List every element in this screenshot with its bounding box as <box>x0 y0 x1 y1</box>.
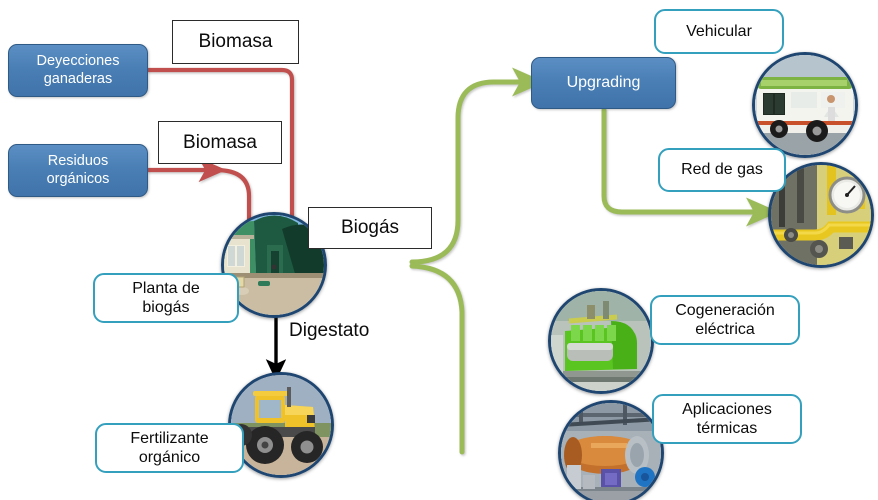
label-digestato: Digestato <box>289 320 369 342</box>
photo-boiler[interactable] <box>558 400 664 500</box>
label-biomasa-2-text: Biomasa <box>183 132 257 154</box>
label-aplicaciones-termicas[interactable]: Aplicaciones térmicas <box>652 394 802 444</box>
label-cogeneracion-electrica-line2: eléctrica <box>675 320 775 339</box>
label-biogas-text: Biogás <box>341 217 399 239</box>
label-aplicaciones-termicas-line1: Aplicaciones <box>682 400 772 419</box>
tractor-photo <box>231 375 331 475</box>
label-planta-de-biogas-line1: Planta de <box>132 279 200 298</box>
diagram-canvas: Deyecciones ganaderas Residuos orgánicos… <box>0 0 878 500</box>
label-planta-de-biogas-line2: biogás <box>132 298 200 317</box>
label-cogeneracion-electrica-line1: Cogeneración <box>675 301 775 320</box>
label-biomasa-1: Biomasa <box>172 20 299 64</box>
label-biomasa-2: Biomasa <box>158 121 282 164</box>
label-red-de-gas-text: Red de gas <box>681 160 763 179</box>
boiler-photo <box>561 403 661 500</box>
label-aplicaciones-termicas-line2: térmicas <box>682 419 772 438</box>
label-fertilizante-organico-line1: Fertilizante <box>130 429 208 448</box>
node-residuos-organicos-line1: Residuos <box>47 153 110 170</box>
label-fertilizante-organico-line2: orgánico <box>130 448 208 467</box>
node-deyecciones-ganaderas-line1: Deyecciones <box>36 53 119 70</box>
chp-engine-photo <box>551 291 651 391</box>
node-deyecciones-ganaderas[interactable]: Deyecciones ganaderas <box>8 44 148 97</box>
photo-bus[interactable] <box>752 52 858 158</box>
node-upgrading[interactable]: Upgrading <box>531 57 676 109</box>
arrow-biogas-down-trunk <box>412 266 462 452</box>
label-biogas: Biogás <box>308 207 432 249</box>
node-upgrading-label: Upgrading <box>567 74 641 93</box>
label-vehicular[interactable]: Vehicular <box>654 9 784 54</box>
label-fertilizante-organico[interactable]: Fertilizante orgánico <box>95 423 244 473</box>
label-planta-de-biogas[interactable]: Planta de biogás <box>93 273 239 323</box>
label-vehicular-text: Vehicular <box>686 22 752 41</box>
node-deyecciones-ganaderas-line2: ganaderas <box>36 71 119 88</box>
photo-chp-engine[interactable] <box>548 288 654 394</box>
gas-network-photo <box>771 165 871 265</box>
label-red-de-gas[interactable]: Red de gas <box>658 148 786 192</box>
label-biomasa-1-text: Biomasa <box>199 31 273 53</box>
node-residuos-organicos-line2: orgánicos <box>47 171 110 188</box>
node-residuos-organicos[interactable]: Residuos orgánicos <box>8 144 148 197</box>
bus-photo <box>755 55 855 155</box>
label-cogeneracion-electrica[interactable]: Cogeneración eléctrica <box>650 295 800 345</box>
